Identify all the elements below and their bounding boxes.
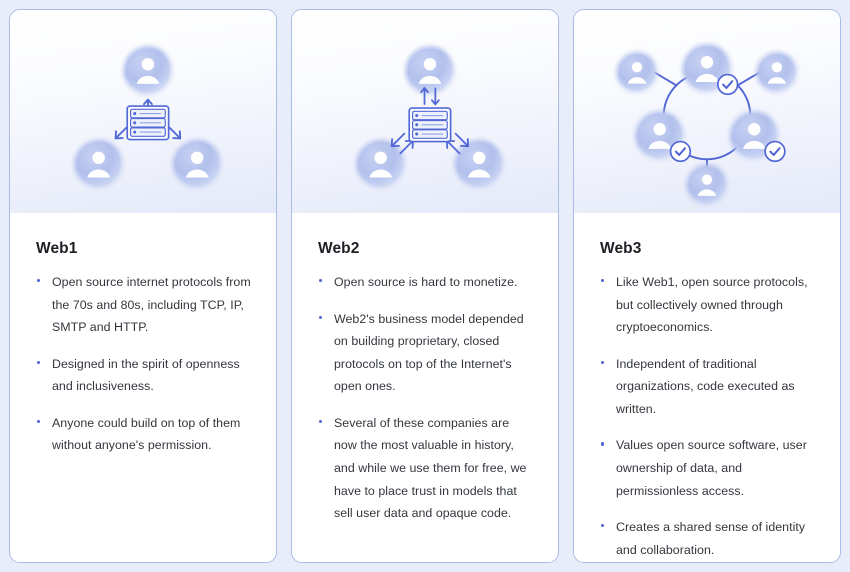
bullet-dot-icon <box>601 361 604 364</box>
bullet-dot-icon <box>319 279 322 282</box>
list-item: Anyone could build on top of them withou… <box>36 412 252 457</box>
list-item: Creates a shared sense of identity and c… <box>600 516 816 561</box>
list-item-text: Designed in the spirit of openness and i… <box>52 357 240 394</box>
bullet-dot-icon <box>601 442 604 445</box>
card-web3[interactable]: Web3 Like Web1, open source protocols, b… <box>573 9 841 563</box>
card-web1[interactable]: Web1 Open source internet protocols from… <box>9 9 277 563</box>
bullet-dot-icon <box>37 361 40 364</box>
bullet-dot-icon <box>37 420 40 423</box>
list-item-text: Open source internet protocols from the … <box>52 275 251 334</box>
page-title: Web2 <box>318 240 534 258</box>
web2-client-server-diagram <box>292 10 558 213</box>
web2-content: Web2 Open source is hard to monetize. We… <box>292 213 558 562</box>
list-item-text: Creates a shared sense of identity and c… <box>616 520 805 557</box>
arrow-down-left-icon <box>116 128 127 139</box>
web3-bullet-list: Like Web1, open source protocols, but co… <box>600 271 816 561</box>
user-avatar-icon <box>123 46 172 95</box>
list-item-text: Independent of traditional organizations… <box>616 357 795 416</box>
verified-check-icon <box>718 75 738 95</box>
list-item-text: Several of these companies are now the m… <box>334 416 526 520</box>
list-item: Designed in the spirit of openness and i… <box>36 353 252 398</box>
user-avatar-icon <box>756 52 797 93</box>
web2-bullet-list: Open source is hard to monetize. Web2's … <box>318 271 534 525</box>
web3-peer-network-diagram <box>574 10 840 213</box>
user-avatar-icon <box>356 140 405 189</box>
user-avatar-icon <box>686 164 727 205</box>
user-avatar-icon <box>455 140 504 189</box>
list-item: Open source internet protocols from the … <box>36 271 252 339</box>
list-item: Values open source software, user owners… <box>600 434 816 502</box>
user-avatar-icon <box>74 140 123 189</box>
bullet-dot-icon <box>601 524 604 527</box>
web3-illustration <box>574 10 840 213</box>
web1-illustration <box>10 10 276 213</box>
bullet-dot-icon <box>319 420 322 423</box>
page-title: Web1 <box>36 240 252 258</box>
list-item-text: Like Web1, open source protocols, but co… <box>616 275 808 334</box>
web2-illustration <box>292 10 558 213</box>
page-title: Web3 <box>600 240 816 258</box>
server-icon <box>409 108 450 141</box>
web1-bullet-list: Open source internet protocols from the … <box>36 271 252 457</box>
comparison-board: Web1 Open source internet protocols from… <box>0 0 850 572</box>
list-item: Open source is hard to monetize. <box>318 271 534 294</box>
list-item: Web2's business model depended on buildi… <box>318 308 534 398</box>
list-item: Independent of traditional organizations… <box>600 353 816 421</box>
bullet-dot-icon <box>601 279 604 282</box>
arrow-down-right-icon <box>170 128 181 139</box>
web1-hub-and-spoke-diagram <box>10 10 276 213</box>
server-icon <box>127 106 168 139</box>
list-item: Several of these companies are now the m… <box>318 412 534 525</box>
verified-check-icon <box>671 142 691 162</box>
user-avatar-icon <box>616 52 657 93</box>
list-item: Like Web1, open source protocols, but co… <box>600 271 816 339</box>
user-avatar-icon <box>173 140 222 189</box>
list-item-text: Anyone could build on top of them withou… <box>52 416 240 453</box>
list-item-text: Open source is hard to monetize. <box>334 275 517 289</box>
web3-content: Web3 Like Web1, open source protocols, b… <box>574 213 840 563</box>
list-item-text: Web2's business model depended on buildi… <box>334 312 524 394</box>
web1-content: Web1 Open source internet protocols from… <box>10 213 276 562</box>
list-item-text: Values open source software, user owners… <box>616 438 807 497</box>
user-avatar-icon <box>405 46 454 95</box>
bullet-dot-icon <box>37 279 40 282</box>
verified-check-icon <box>765 142 785 162</box>
card-web2[interactable]: Web2 Open source is hard to monetize. We… <box>291 9 559 563</box>
bullet-dot-icon <box>319 316 322 319</box>
